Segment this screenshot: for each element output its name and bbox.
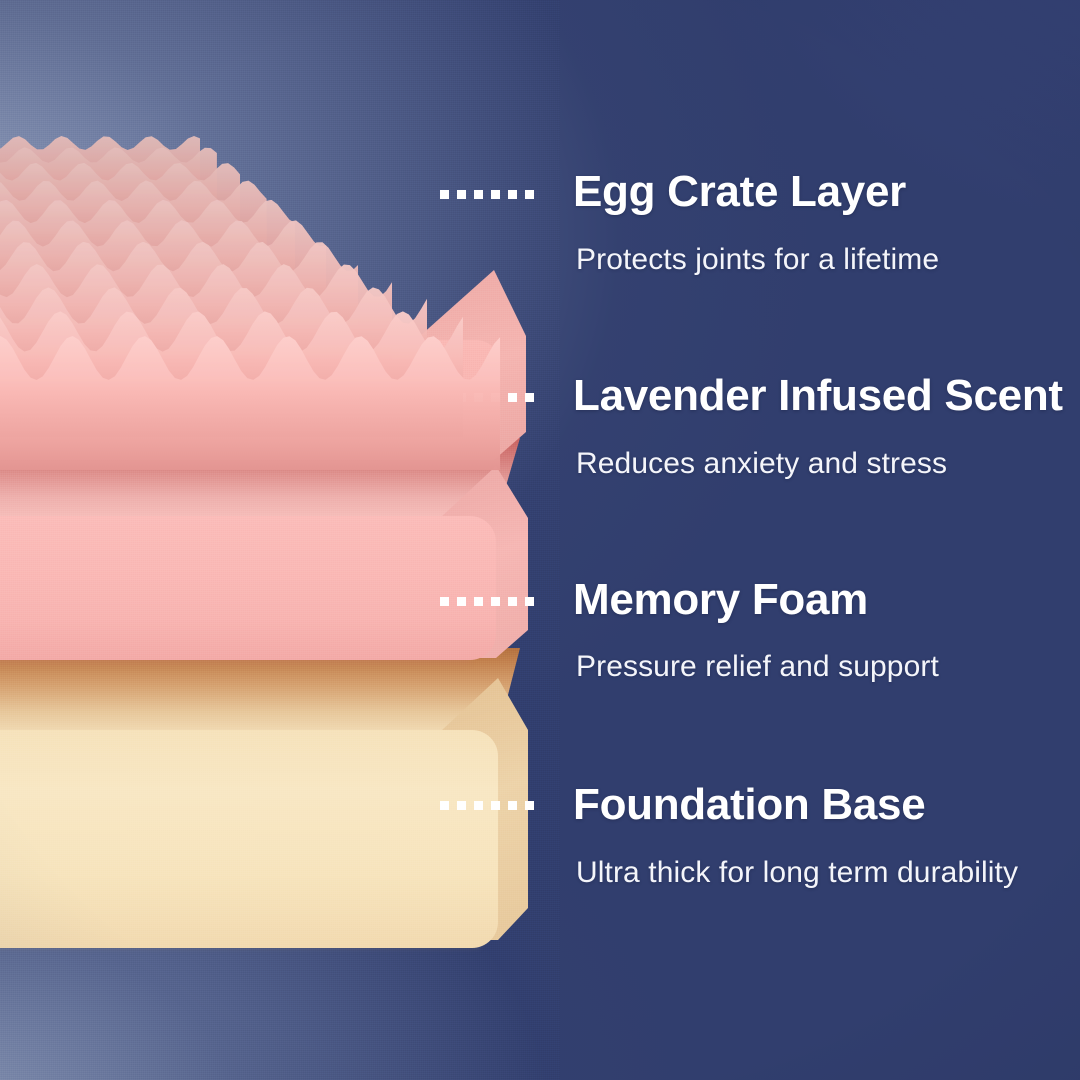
leader-dots-icon <box>440 801 540 810</box>
leader-dots-icon <box>440 190 540 199</box>
infographic-canvas: Egg Crate LayerProtects joints for a lif… <box>0 0 1080 1080</box>
callout-title: Lavender Infused Scent <box>573 371 1063 421</box>
callout-title: Egg Crate Layer <box>573 167 906 217</box>
callout-subtitle: Pressure relief and support <box>576 650 939 684</box>
callout-subtitle: Reduces anxiety and stress <box>576 447 947 481</box>
callout-title: Foundation Base <box>573 780 925 830</box>
callout-title: Memory Foam <box>573 575 868 625</box>
callout-subtitle: Protects joints for a lifetime <box>576 243 939 277</box>
callout-subtitle: Ultra thick for long term durability <box>576 856 1018 890</box>
leader-dots-icon <box>440 597 540 606</box>
